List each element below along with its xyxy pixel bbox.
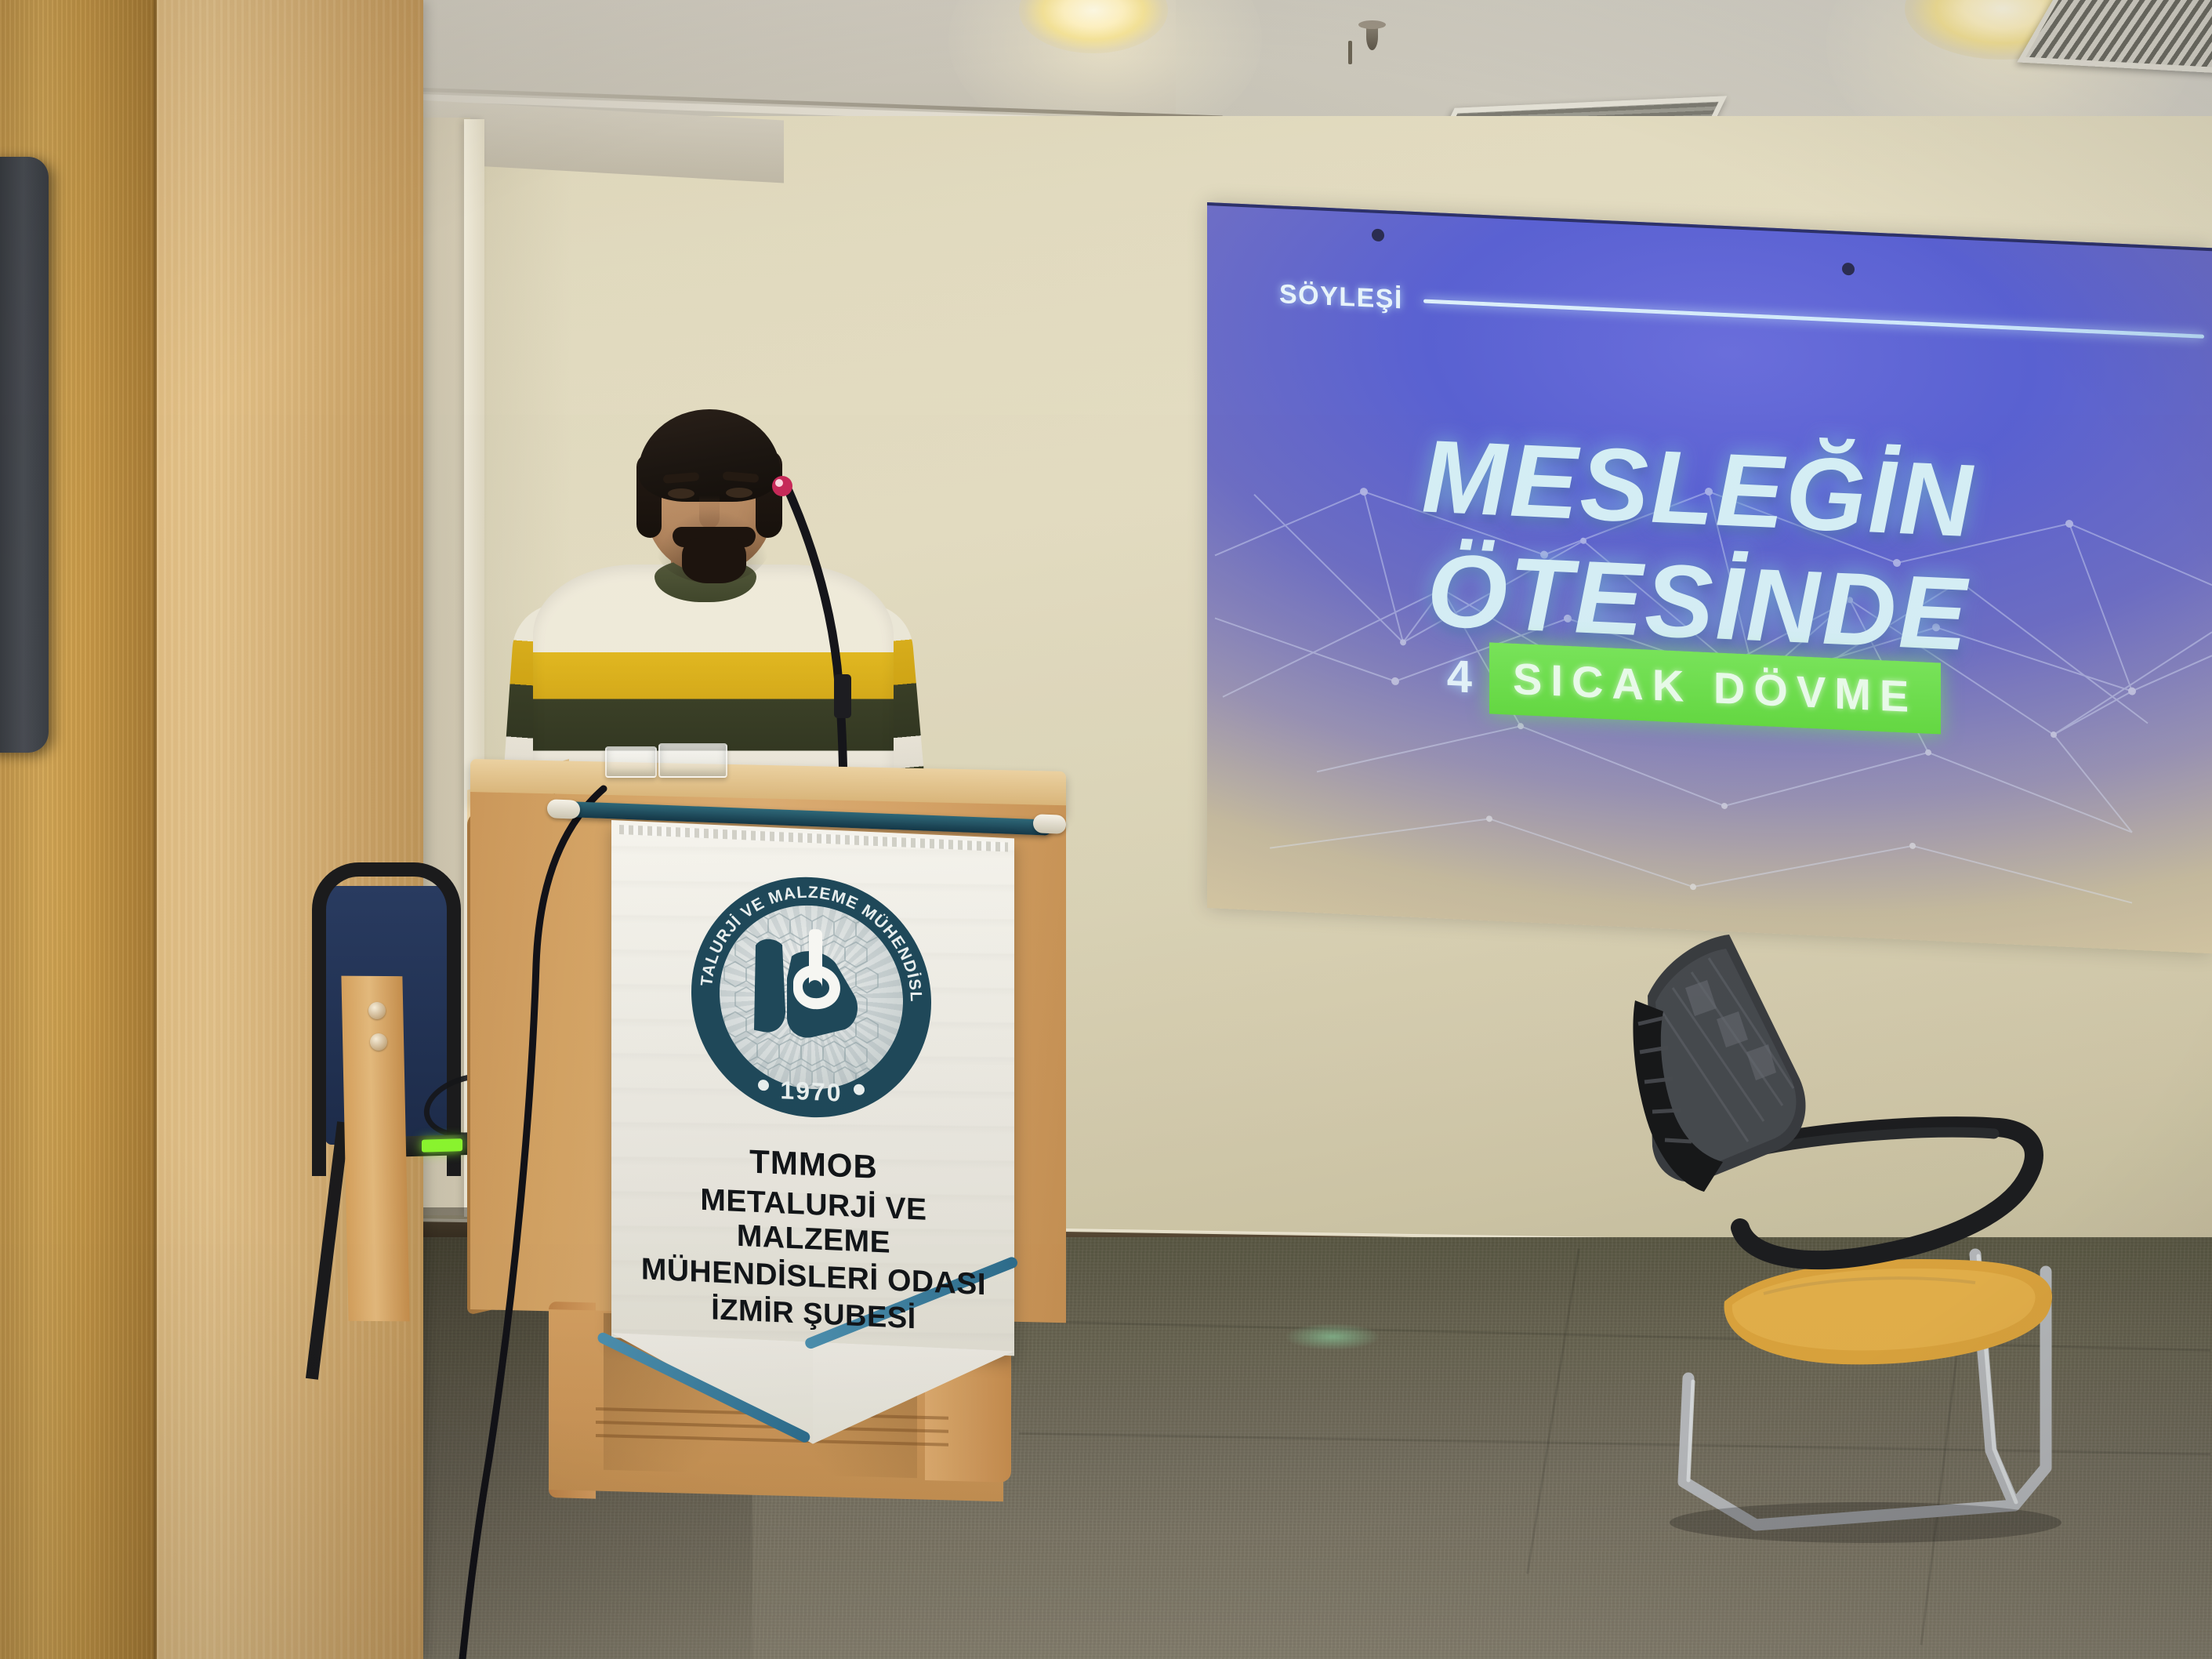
loudspeaker-cabinet (0, 157, 49, 753)
speaker-nose (699, 496, 720, 528)
slide-subtitle-badge-label: SICAK DÖVME (1513, 654, 1917, 721)
banner-trim-left (596, 1330, 811, 1444)
slide-eyebrow-rule (1423, 299, 2204, 338)
wood-column (157, 0, 423, 1659)
tmmob-logo-seal: TMMOB METALURJİ VE MALZEME MÜHENDİSLERİ … (691, 872, 931, 1123)
logo-arc-text-path: TMMOB METALURJİ VE MALZEME MÜHENDİSLERİ … (691, 872, 925, 1004)
banner-trim (611, 1331, 1014, 1456)
svg-text:TMMOB METALURJİ VE MALZEME MÜH: TMMOB METALURJİ VE MALZEME MÜHENDİSLERİ … (691, 872, 925, 1004)
slide-eyebrow-row: SÖYLEŞİ (1279, 278, 2204, 353)
water-glass (658, 743, 727, 778)
green-light-reflection (1285, 1323, 1380, 1350)
sprinkler-head-icon (1366, 24, 1378, 50)
microphone-body (834, 674, 851, 718)
chair-seat-cushion (1724, 1259, 2052, 1364)
banner-text-block: TMMOB METALURJİ VE MALZEME MÜHENDİSLERİ … (619, 1137, 1008, 1341)
podium-screw-icon (370, 1033, 387, 1051)
speaker-eye-left (668, 488, 694, 499)
banner-rod-cap-left (547, 799, 580, 819)
slide-eyebrow-label: SÖYLEŞİ (1279, 279, 1403, 315)
microphone-capsule-icon (772, 476, 792, 496)
water-glass (605, 746, 657, 778)
banner-line-2: METALURJİ VE MALZEME (619, 1179, 1008, 1266)
podium-support-leg (341, 976, 409, 1322)
photo-scene: SÖYLEŞİ MESLEĞİN ÖTESİNDE 4 SICAK DÖVME (0, 0, 2212, 1659)
ceiling-hook-icon (1348, 41, 1352, 64)
visitor-chair (1607, 886, 2140, 1545)
projection-screen: SÖYLEŞİ MESLEĞİN ÖTESİNDE 4 SICAK DÖVME (1207, 202, 2212, 953)
podium-screw-icon (368, 1002, 386, 1019)
screen-mount-bolt (1842, 263, 1855, 276)
screen-mount-bolt (1372, 229, 1384, 242)
slide-subtitle-number: 4 (1447, 650, 1472, 703)
microphone-gooseneck (737, 478, 933, 808)
banner-rod-cap-right (1033, 814, 1066, 834)
